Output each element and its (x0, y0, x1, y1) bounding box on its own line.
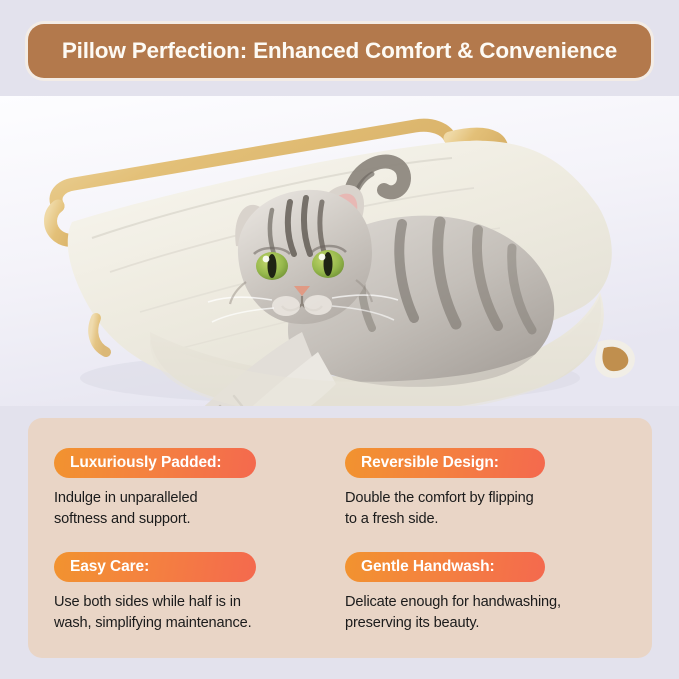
cat-hammock-illustration (0, 96, 679, 406)
feature-description-reversible-design: Double the comfort by flipping to a fres… (345, 488, 626, 529)
page-title: Pillow Perfection: Enhanced Comfort & Co… (62, 38, 617, 64)
features-grid: Luxuriously Padded: Indulge in unparalle… (54, 448, 626, 633)
feature-label-gentle-handwash: Gentle Handwash: (345, 552, 545, 582)
feature-label-easy-care: Easy Care: (54, 552, 256, 582)
feature-description-easy-care: Use both sides while half is in wash, si… (54, 592, 345, 633)
feature-label-luxuriously-padded: Luxuriously Padded: (54, 448, 256, 478)
feature-item-gentle-handwash: Gentle Handwash: Delicate enough for han… (345, 552, 626, 633)
product-photo (0, 96, 679, 406)
feature-item-easy-care: Easy Care: Use both sides while half is … (54, 552, 345, 633)
feature-description-gentle-handwash: Delicate enough for handwashing, preserv… (345, 592, 626, 633)
feature-description-luxuriously-padded: Indulge in unparalleled softness and sup… (54, 488, 345, 529)
feature-item-luxuriously-padded: Luxuriously Padded: Indulge in unparalle… (54, 448, 345, 552)
features-panel: Luxuriously Padded: Indulge in unparalle… (28, 418, 652, 658)
feature-item-reversible-design: Reversible Design: Double the comfort by… (345, 448, 626, 552)
header-banner: Pillow Perfection: Enhanced Comfort & Co… (28, 24, 651, 78)
feature-label-reversible-design: Reversible Design: (345, 448, 545, 478)
header-section: Pillow Perfection: Enhanced Comfort & Co… (0, 0, 679, 96)
